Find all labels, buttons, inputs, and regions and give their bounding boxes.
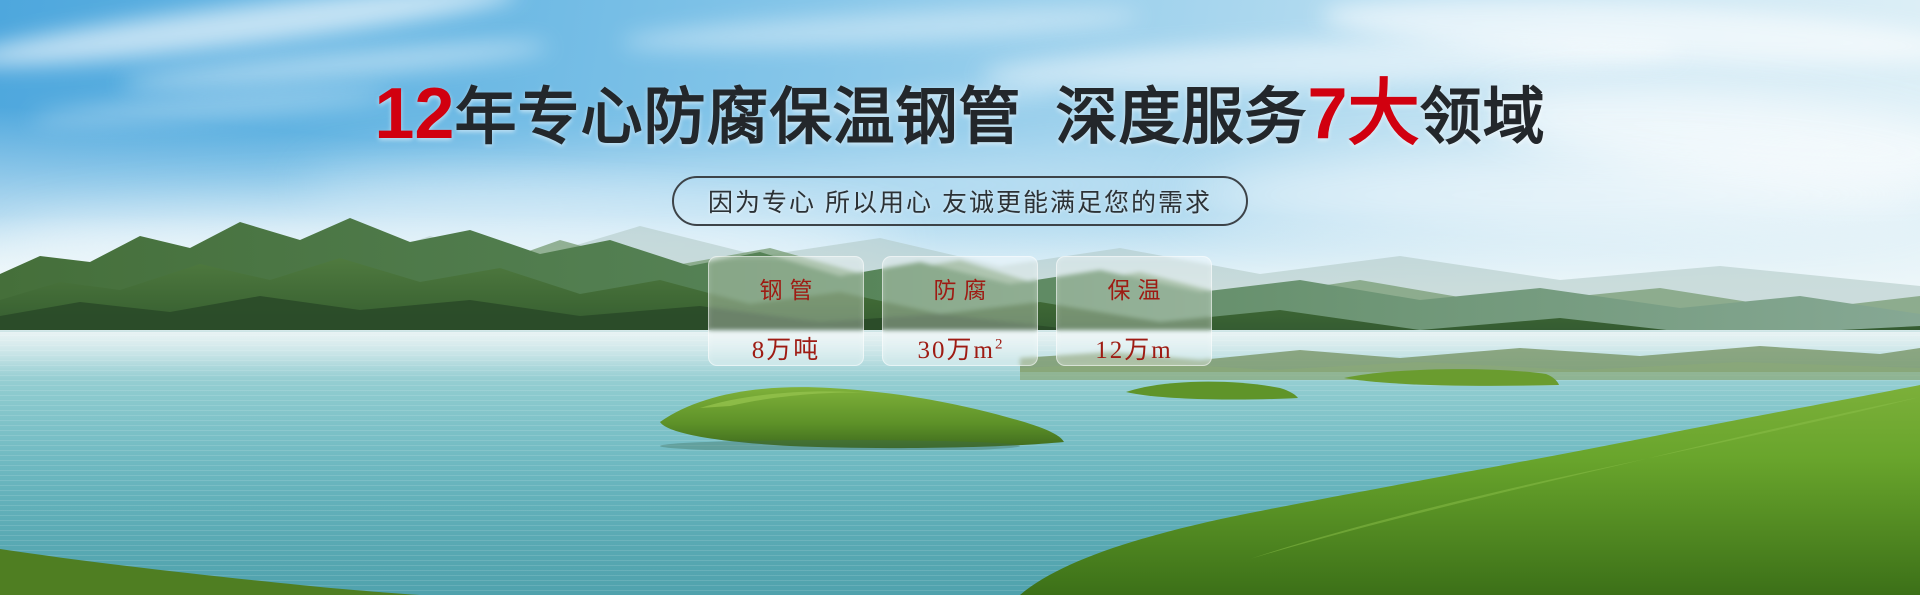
stat-card-label: 防腐 bbox=[927, 271, 994, 305]
subtitle-text: 因为专心 所以用心 友诚更能满足您的需求 bbox=[708, 183, 1212, 219]
stat-card-list: 钢管 8万吨 防腐 30万m2 保温 12万m bbox=[708, 256, 1212, 366]
stat-card-value-main: 30万m bbox=[918, 337, 995, 364]
stat-card-label: 钢管 bbox=[753, 271, 820, 305]
stat-card-anticorrosion: 防腐 30万m2 bbox=[882, 256, 1038, 366]
stat-card-value-main: 12万m bbox=[1095, 337, 1172, 364]
headline-years-unit: 年 bbox=[454, 83, 517, 152]
stat-card-steel-pipe: 钢管 8万吨 bbox=[708, 256, 864, 366]
subtitle-pill: 因为专心 所以用心 友诚更能满足您的需求 bbox=[672, 176, 1248, 226]
headline-fields-unit: 大 bbox=[1348, 74, 1420, 154]
stat-card-value: 8万吨 bbox=[752, 330, 821, 366]
headline-service-text: 深度服务 bbox=[1056, 83, 1308, 152]
page-title: 12年专心防腐保温钢管深度服务7大领域 bbox=[374, 78, 1545, 150]
headline-fields-number: 7 bbox=[1308, 74, 1348, 154]
stat-card-insulation: 保温 12万m bbox=[1056, 256, 1212, 366]
stat-card-value: 30万m2 bbox=[918, 330, 1003, 366]
banner-content: 12年专心防腐保温钢管深度服务7大领域 因为专心 所以用心 友诚更能满足您的需求… bbox=[0, 0, 1920, 595]
headline-fields-text: 领域 bbox=[1420, 83, 1546, 152]
headline-main-text: 专心防腐保温钢管 bbox=[518, 83, 1022, 152]
hero-banner: 12年专心防腐保温钢管深度服务7大领域 因为专心 所以用心 友诚更能满足您的需求… bbox=[0, 0, 1920, 595]
stat-card-label: 保温 bbox=[1101, 271, 1168, 305]
headline-years-number: 12 bbox=[374, 74, 454, 154]
stat-card-value-main: 8万吨 bbox=[752, 337, 821, 364]
stat-card-value: 12万m bbox=[1095, 330, 1172, 366]
stat-card-value-superscript: 2 bbox=[995, 337, 1003, 353]
